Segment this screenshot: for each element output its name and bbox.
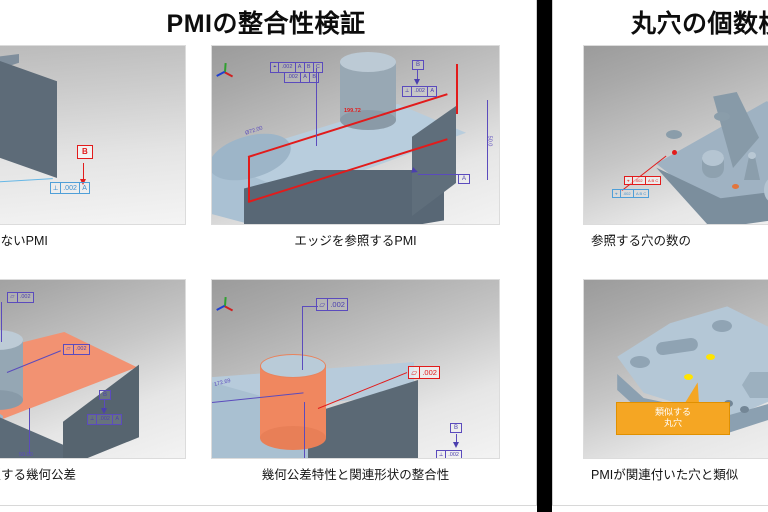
fcf-tolerance-a: .002 (61, 183, 80, 193)
fcf-flatness-purple-d[interactable]: ▱ .002 (316, 298, 348, 311)
datum-b-marker-b[interactable]: B (412, 60, 424, 70)
caption-similar-holes: PMIが関連付いた穴と類似 (591, 464, 768, 483)
fcf-flatness-red-d[interactable]: ▱ .002 (408, 366, 440, 379)
fcf-flatness-tol-1-c: .002 (18, 293, 33, 302)
annotation-red-cell1-e: ⌖ (625, 177, 633, 184)
fcf-perp-tol-b: .002 (412, 87, 428, 96)
annotation-red-cell2-e: .002 (633, 177, 646, 184)
coordinate-triad-icon-d (217, 285, 233, 301)
cad-viewport-d[interactable]: ▱ .002 ▱ .002 B ⟂ .002 (211, 279, 500, 459)
figure-similar-holes[interactable]: 類似する 丸穴 PMIが関連付いた穴と類似 (583, 279, 768, 459)
fcf-perpendicularity-c[interactable]: ⟂ .002 A (87, 414, 122, 425)
cad-boss-cone-e (744, 152, 760, 180)
fcf-flatness-red-tol-d: .002 (420, 367, 439, 378)
fcf-perp-datum-c: A (113, 415, 121, 424)
caption-unlinked-pmi: 関連付いていないPMI (0, 230, 186, 249)
annotation-blue-cell3-e: A B C (634, 190, 649, 197)
leader-anchor-e (672, 150, 677, 155)
fcf-row2-a-b: A (301, 73, 310, 82)
fcf-perp-datum-b: A (428, 87, 436, 96)
fcf-perp-symbol-c: ⟂ (88, 415, 97, 424)
cad-viewport-a[interactable]: B ⟂ .002 A (0, 45, 186, 225)
cad-cylinder-highlight-d (260, 354, 326, 450)
cad-boss-round-e (702, 150, 724, 180)
fcf-perp-symbol-d: ⟂ (437, 451, 446, 459)
fcf-row1-a-b: A (296, 63, 305, 72)
coordinate-triad-icon-b (217, 51, 233, 67)
slide-right: 丸穴の個数検 (552, 0, 768, 506)
cad-side-hole-e (666, 130, 682, 139)
fcf-flatness-purple-tol-d: .002 (328, 299, 347, 310)
cad-viewport-b[interactable]: 199.72 Ø72.00 50.0 ⌖ .002 A B C .002 A (211, 45, 500, 225)
fcf-flatness-tol-2-c: .002 (74, 345, 89, 354)
fcf-row1-b-b: B (305, 63, 314, 72)
fcf-perp-tol-c: .002 (97, 415, 113, 424)
edge-highlight-right-b (456, 64, 458, 114)
fcf-perpendicularity-a[interactable]: ⟂ .002 A (50, 182, 90, 194)
cad-viewport-c[interactable]: ▱ .002 ▱ .002 B ⟂ .002 A (0, 279, 186, 459)
fcf-position-leader-b (316, 68, 317, 146)
slide-right-title: 丸穴の個数検 (631, 4, 768, 40)
figure-tolerance-geometry-match[interactable]: ▱ .002 ▱ .002 B ⟂ .002 (211, 279, 500, 459)
datum-b-arrow-b (414, 79, 420, 85)
fcf-flatness-purple-symbol-d: ▱ (317, 299, 328, 310)
fcf-perp-tol-d: .002 (446, 451, 461, 459)
fcf-perp-symbol-b: ⟂ (403, 87, 412, 96)
dim-vline-d (304, 402, 305, 459)
cad-cylinder-boss-b (340, 52, 396, 126)
fcf-perpendicularity-b[interactable]: ⟂ .002 A (402, 86, 437, 97)
caption-edge-ref-pmi: エッジを参照するPMI (211, 230, 500, 249)
annotation-blue-cell2-e: .002 (621, 190, 634, 197)
cad-viewport-e[interactable]: ⌖ .002 A B C ⌖ .002 A B C (583, 45, 768, 225)
fcf-flatness-purple-elbow-d (302, 306, 318, 307)
slide-left: PMIの整合性検証 B ⟂ .002 (0, 0, 537, 506)
annotation-cluster-blue-e[interactable]: ⌖ .002 A B C (612, 189, 649, 198)
datum-b-marker-d[interactable]: B (450, 423, 462, 433)
slide-deck: PMIの整合性検証 B ⟂ .002 (0, 0, 768, 512)
cad-small-hole2-f (740, 406, 749, 413)
datum-b-marker-c[interactable]: B (99, 390, 111, 400)
edge-highlight-left-b (248, 156, 250, 202)
datum-a-marker-b[interactable]: A (458, 174, 470, 184)
fcf-flatness-symbol-1-c: ▱ (8, 293, 18, 302)
fcf-symbol-a: ⟂ (51, 183, 61, 193)
fcf-flatness-2-c[interactable]: ▱ .002 (63, 344, 90, 355)
cad-hole2-f (630, 356, 650, 368)
datum-a-leader-b (418, 174, 458, 175)
callout-line2-f: 丸穴 (623, 418, 723, 429)
datum-b-arrow-d (453, 442, 459, 448)
slide-left-title: PMIの整合性検証 (0, 4, 536, 40)
fcf-position-symbol-b: ⌖ (271, 63, 279, 72)
annotation-cluster-red-e[interactable]: ⌖ .002 A B C (624, 176, 661, 185)
fcf-row2-tol-b: .002 (285, 73, 301, 82)
datum-b-marker-a[interactable]: B (77, 145, 93, 159)
slide-divider (537, 0, 552, 512)
cad-viewport-f[interactable]: 類似する 丸穴 (583, 279, 768, 459)
figure-edge-ref-pmi[interactable]: 199.72 Ø72.00 50.0 ⌖ .002 A B C .002 A (211, 45, 500, 225)
fcf-position-row2-b[interactable]: .002 A B (284, 72, 319, 83)
callout-similar-holes-f[interactable]: 類似する 丸穴 (616, 402, 730, 435)
cad-top-hole-e (714, 112, 730, 121)
height-dim-line-c (29, 408, 30, 454)
fcf-flatness-red-symbol-d: ▱ (409, 367, 420, 378)
fcf-flatness-purple-leader-d (302, 306, 303, 370)
annotation-red-cell3-e: A B C (646, 177, 661, 184)
highlight-hole2-f[interactable] (684, 374, 693, 380)
annotation-blue-cell1-e: ⌖ (613, 190, 621, 197)
height-dimension-c: 50.00 (19, 452, 33, 458)
caption-tolerance-geometry-match: 幾何公差特性と関連形状の整合性 (211, 464, 500, 483)
figure-hole-count[interactable]: ⌖ .002 A B C ⌖ .002 A B C 参照する穴の数の (583, 45, 768, 225)
length-dimension-b: 199.72 (344, 108, 361, 114)
fcf-perpendicularity-d[interactable]: ⟂ .002 (436, 450, 462, 459)
fcf-row1-tol-b: .002 (279, 63, 295, 72)
cad-hole-marker-e (732, 184, 739, 189)
caption-datum-ref-tolerance: ータムを参照する幾何公差 (0, 464, 186, 483)
figure-datum-ref-tolerance[interactable]: ▱ .002 ▱ .002 B ⟂ .002 A (0, 279, 186, 459)
fcf-flatness-1-leader-c (1, 302, 2, 342)
height-dim-line-b (487, 100, 488, 180)
figure-unlinked-pmi[interactable]: B ⟂ .002 A 関連付いていないPMI (0, 45, 186, 225)
callout-line1-f: 類似する (623, 407, 723, 418)
cad-hole1-f (712, 320, 732, 332)
highlight-hole1-f[interactable] (706, 354, 715, 360)
fcf-flatness-symbol-2-c: ▱ (64, 345, 74, 354)
annotation-leader-e (622, 156, 667, 191)
fcf-row1-c-b: C (314, 63, 322, 72)
caption-hole-count: 参照する穴の数の (591, 230, 768, 249)
fcf-datum-a: A (80, 183, 89, 193)
fcf-flatness-1-c[interactable]: ▱ .002 (7, 292, 34, 303)
edge-highlight-a (0, 178, 53, 187)
